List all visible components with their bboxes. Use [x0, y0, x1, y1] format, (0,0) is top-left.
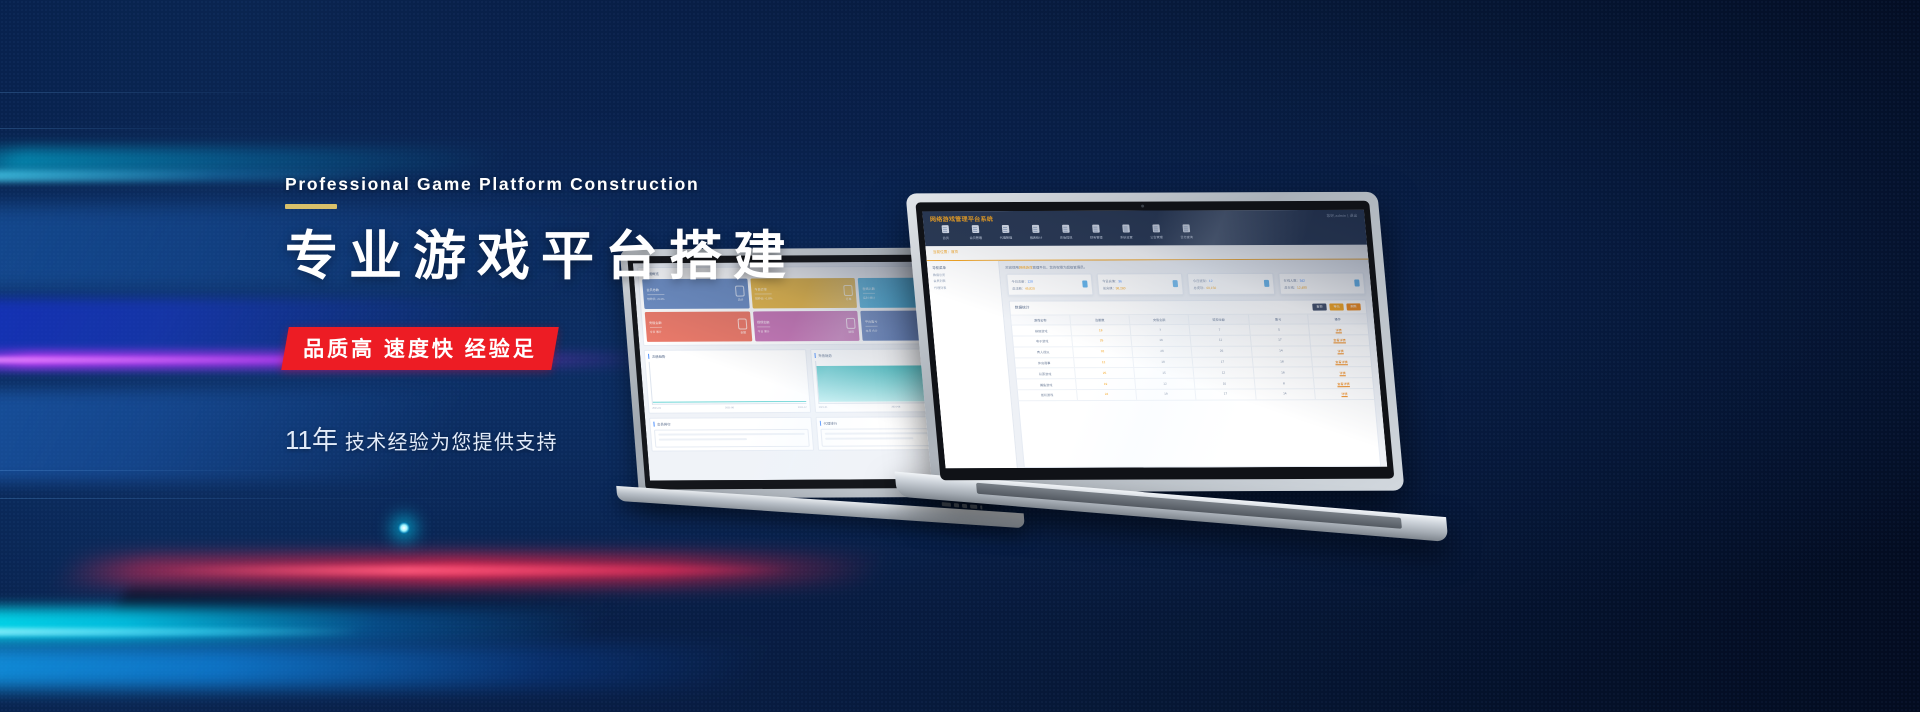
- cell: 8: [1254, 379, 1314, 389]
- front-laptop-bezel: 网络游戏管理平台系统 您好,admin | 退出 首页: [915, 201, 1394, 480]
- cell: 电子游戏: [1013, 336, 1073, 346]
- cell: 12: [1194, 368, 1254, 378]
- stat-line-1: 今日注册：128: [1011, 278, 1034, 283]
- toolbar-label: 报表统计: [1030, 234, 1043, 239]
- cell: 19: [1136, 390, 1196, 400]
- front-laptop-lid: 网络游戏管理平台系统 您好,admin | 退出 首页: [906, 192, 1405, 492]
- experience-years: 11年: [285, 425, 338, 455]
- cell-action[interactable]: 查看详情: [1314, 378, 1373, 388]
- stat-line-1: 今日提现：12: [1193, 278, 1216, 283]
- scan-line: [0, 498, 560, 499]
- stat-line-1: 今日充值：36: [1102, 278, 1125, 283]
- cell: 15: [1134, 368, 1194, 378]
- scan-line: [0, 92, 430, 93]
- cell-action[interactable]: 查看详情: [1312, 357, 1371, 367]
- admin-main: 欢迎使用网络游戏管理平台，您的权限为超级管理员。 今日注册：128 总注册：45…: [999, 260, 1388, 468]
- data-table: 游戏名称 注册数 充值金额 提现金额 盈亏 操作: [1011, 314, 1381, 467]
- toolbar-item-notice[interactable]: 公告管理: [1140, 224, 1171, 239]
- cell: 捕鱼游戏: [1016, 379, 1076, 389]
- admin-toolbar: 首页 会员管理 代理管理: [923, 222, 1366, 240]
- cell: 10: [1195, 379, 1255, 389]
- stat-line-2: 总充值：98,260: [1103, 285, 1126, 290]
- front-laptop: 网络游戏管理平台系统 您好,admin | 退出 首页: [906, 192, 1405, 492]
- gear-icon: [1122, 225, 1130, 233]
- toolbar-item-finance[interactable]: 财务管理: [1080, 225, 1111, 240]
- recharge-icon: [1173, 280, 1179, 287]
- cell: 16: [1131, 336, 1191, 346]
- admin-app: 网络游戏管理平台系统 您好,admin | 退出 首页: [922, 210, 1387, 468]
- stat-card[interactable]: 今日注册：128 总注册：45,820: [1006, 273, 1094, 295]
- wallet-icon: [1061, 225, 1069, 233]
- cell: 7: [1190, 325, 1250, 335]
- cell: 17: [1250, 336, 1310, 346]
- cell: 26: [1192, 347, 1252, 357]
- report-icon: [1031, 225, 1039, 233]
- hero-eyebrow: Professional Game Platform Construction: [285, 175, 905, 194]
- hero-copy: Professional Game Platform Construction …: [285, 175, 905, 457]
- admin-header: 网络游戏管理平台系统 您好,admin | 退出 首页: [922, 210, 1367, 246]
- toolbar-label: 公告管理: [1150, 234, 1163, 239]
- note-strong: 网络游戏: [1019, 266, 1033, 270]
- cell-action[interactable]: 查看详情: [1310, 335, 1369, 345]
- streak-cyan-upper: [0, 148, 506, 174]
- toolbar-label: 充值提现: [1060, 234, 1073, 239]
- glow-dot: [398, 522, 410, 534]
- hero-headline: 专业游戏平台搭建: [285, 227, 905, 286]
- sidebar-item-agents[interactable]: 代理列表: [934, 286, 996, 290]
- refresh-button[interactable]: 刷新: [1346, 303, 1361, 310]
- cell: 26: [1072, 336, 1132, 346]
- stat-line-2: 总在线：12,480: [1284, 285, 1307, 290]
- cell: 26: [1132, 347, 1192, 357]
- cell-action[interactable]: 详情: [1309, 325, 1368, 335]
- streak-navy-wedge: [113, 586, 648, 616]
- cell: 14: [1255, 389, 1315, 399]
- column-header: 操作: [1308, 314, 1367, 324]
- toolbar-label: 代理管理: [999, 234, 1012, 239]
- sidebar-item-members[interactable]: 会员列表: [933, 279, 995, 283]
- data-panel: 数据统计 查询 导出 刷新: [1008, 299, 1381, 468]
- toolbar-label: 财务管理: [1090, 234, 1103, 239]
- stat-line-1: 在线人数：342: [1283, 277, 1306, 282]
- panel-buttons: 查询 导出 刷新: [1312, 303, 1361, 310]
- cell: 17: [1193, 357, 1253, 367]
- panel-header: 数据统计 查询 导出 刷新: [1009, 300, 1366, 315]
- experience-text: 技术经验为您提供支持: [345, 432, 558, 454]
- cell: 32: [1073, 347, 1133, 357]
- port-icon: [980, 505, 982, 509]
- stat-card[interactable]: 今日充值：36 总充值：98,260: [1097, 273, 1185, 295]
- cell: 棋牌游戏: [1012, 326, 1072, 336]
- cell: 18: [1133, 357, 1193, 367]
- note-prefix: 欢迎使用: [1005, 266, 1019, 270]
- cell: 体育赛事: [1014, 358, 1074, 368]
- cell: 真人视讯: [1013, 347, 1073, 357]
- cell-action[interactable]: 详情: [1315, 389, 1374, 399]
- note-suffix: 管理平台，您的权限为超级管理员。: [1032, 266, 1087, 270]
- cell: 7: [1130, 325, 1190, 335]
- toolbar-item-members[interactable]: 会员管理: [960, 225, 991, 240]
- port-icon: [962, 503, 967, 507]
- quality-badge-label: 品质高 速度快 经验足: [303, 333, 537, 363]
- column-header: 注册数: [1070, 315, 1130, 325]
- export-button[interactable]: 导出: [1329, 303, 1344, 310]
- hero-badge-wrap: 品质高 速度快 经验足: [285, 327, 905, 370]
- cell: 彩票游戏: [1015, 369, 1075, 379]
- log-icon: [1182, 224, 1190, 232]
- sidebar-title: 导航菜单: [932, 265, 994, 270]
- column-header: 提现金额: [1189, 314, 1249, 324]
- port-icon: [954, 503, 959, 507]
- column-header: 游戏名称: [1011, 315, 1071, 325]
- stat-card[interactable]: 在线人数：342 总在线：12,480: [1278, 273, 1366, 295]
- admin-breadcrumb-bar: 当前位置：首页: [925, 244, 1368, 261]
- column-header: 充值金额: [1129, 315, 1189, 325]
- finance-icon: [1092, 225, 1100, 233]
- sidebar-item-overview[interactable]: 数据总览: [933, 273, 995, 277]
- toolbar-label: 首页: [942, 235, 949, 240]
- cell: 18: [1252, 357, 1312, 367]
- query-button[interactable]: 查询: [1312, 303, 1327, 310]
- scan-line: [0, 470, 380, 471]
- toolbar-label: 日志查询: [1180, 234, 1193, 239]
- toolbar-item-logs[interactable]: 日志查询: [1170, 224, 1201, 239]
- home-icon: [941, 225, 949, 233]
- agent-icon: [1001, 225, 1009, 233]
- toolbar-item-agents[interactable]: 代理管理: [990, 225, 1021, 240]
- stat-card[interactable]: 今日提现：12 总提现：60,150: [1187, 273, 1275, 295]
- quality-badge: 品质高 速度快 经验足: [281, 327, 558, 370]
- cell: 19: [1076, 379, 1136, 389]
- toolbar-item-settings[interactable]: 系统设置: [1110, 224, 1141, 239]
- cell: 16: [1253, 368, 1313, 378]
- withdraw-icon: [1264, 280, 1270, 287]
- cell: 14: [1251, 346, 1311, 356]
- table-row[interactable]: 街机游戏 24 19 17 14 详情: [1017, 389, 1374, 401]
- welcome-note: 欢迎使用网络游戏管理平台，您的权限为超级管理员。: [1005, 264, 1363, 270]
- webcam-icon: [1141, 205, 1144, 208]
- column-header: 盈亏: [1248, 314, 1308, 324]
- breadcrumb: 当前位置：首页: [933, 250, 959, 255]
- streak-blue-lower: [0, 645, 771, 689]
- notice-icon: [1152, 224, 1160, 232]
- cell-action[interactable]: 详情: [1313, 368, 1372, 378]
- stat-cards: 今日注册：128 总注册：45,820 今日充值：36: [1006, 273, 1366, 296]
- port-icon: [942, 502, 951, 507]
- toolbar-item-wallet[interactable]: 充值提现: [1050, 225, 1081, 240]
- gold-divider: [285, 204, 337, 209]
- panel-title: 数据统计: [1015, 305, 1030, 310]
- admin-user-bar[interactable]: 您好,admin | 退出: [1326, 214, 1357, 219]
- cell: 12: [1135, 379, 1195, 389]
- port-icon: [970, 504, 977, 509]
- cell: 12: [1074, 358, 1134, 368]
- user-stat-icon: [1082, 281, 1088, 288]
- cell: 24: [1077, 390, 1137, 400]
- cell: 25: [1075, 368, 1135, 378]
- cell-action[interactable]: 详情: [1311, 346, 1370, 356]
- banner-stage: Professional Game Platform Construction …: [0, 0, 1920, 712]
- streak-cyan-lower: [0, 608, 608, 642]
- toolbar-label: 会员管理: [969, 235, 982, 240]
- toolbar-label: 系统设置: [1120, 234, 1133, 239]
- cell: 5: [1249, 325, 1309, 335]
- hero-subline: 11年 技术经验为您提供支持: [285, 420, 905, 457]
- users-icon: [971, 225, 979, 233]
- streak-cyan-lower-hot: [0, 628, 362, 636]
- scan-line: [0, 128, 300, 129]
- toolbar-item-reports[interactable]: 报表统计: [1020, 225, 1051, 240]
- stat-line-2: 总提现：60,150: [1193, 285, 1216, 290]
- cell: 18: [1071, 325, 1131, 335]
- front-laptop-screen: 网络游戏管理平台系统 您好,admin | 退出 首页: [922, 210, 1387, 468]
- cell: 街机游戏: [1017, 390, 1077, 400]
- toolbar-item-home[interactable]: 首页: [929, 225, 960, 240]
- cell: 17: [1196, 389, 1256, 399]
- online-icon: [1354, 280, 1360, 287]
- stat-line-2: 总注册：45,820: [1012, 286, 1035, 291]
- admin-body: 导航菜单 数据总览 会员列表 代理列表 欢迎使用网络游戏管理平台，您的权限为超级…: [927, 260, 1388, 469]
- cell: 11: [1191, 336, 1251, 346]
